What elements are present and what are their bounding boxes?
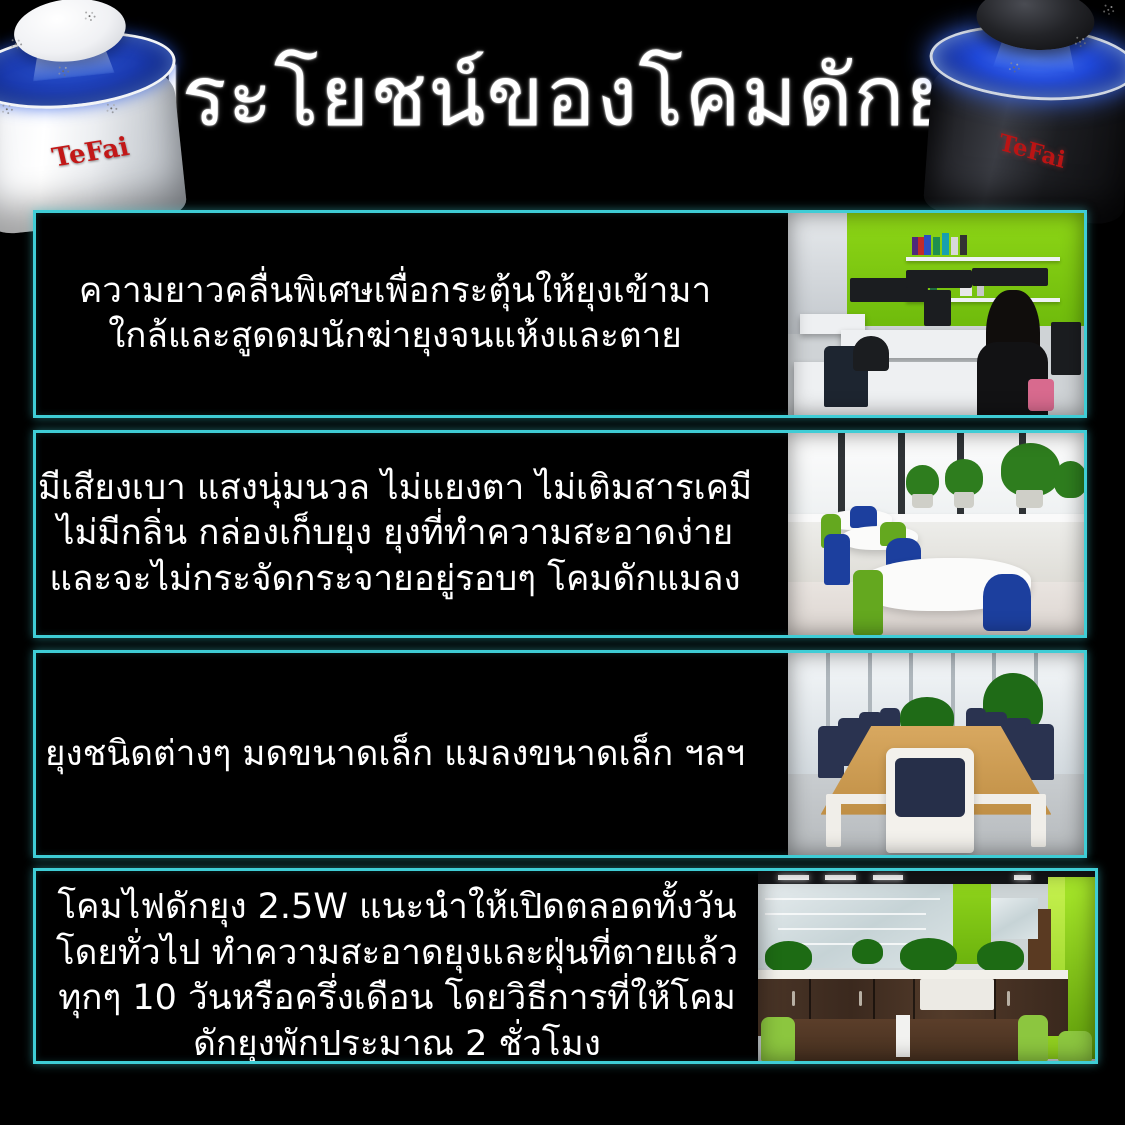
header-banner: ประโยชน์ของโคมดักยุง TeFai TeFai: [0, 0, 1125, 208]
panel-1-text: ความยาวคลื่นพิเศษเพื่อกระตุ้นให้ยุงเข้าม…: [36, 213, 754, 415]
panel-1-line-2: ใกล้และสูดดมนักฆ่ายุงจนแห้งและตาย: [108, 314, 682, 359]
panel-1-line-1: ความยาวคลื่นพิเศษเพื่อกระตุ้นให้ยุงเข้าม…: [79, 269, 711, 314]
benefit-panel-1: ความยาวคลื่นพิเศษเพื่อกระตุ้นให้ยุงเข้าม…: [33, 210, 1087, 418]
mosquito-icon: [1107, 9, 1109, 11]
panel-4-photo: [758, 871, 1095, 1061]
panel-4-text: โคมไฟดักยุง 2.5W แนะนำให้เปิดตลอดทั้งวัน…: [36, 871, 758, 1061]
panel-4-line-3: ทุกๆ 10 วันหรือครึ่งเดือน โดยวิธีการที่ใ…: [58, 976, 736, 1022]
panel-2-photo: [788, 433, 1084, 635]
benefit-panel-3: ยุงชนิดต่างๆ มดขนาดเล็ก แมลงขนาดเล็ก ฯลฯ: [33, 650, 1087, 858]
benefit-panel-4: โคมไฟดักยุง 2.5W แนะนำให้เปิดตลอดทั้งวัน…: [33, 868, 1098, 1064]
panel-2-line-3: และจะไม่กระจัดกระจายอยู่รอบๆ โคมดักแมลง: [49, 557, 740, 603]
panel-3-line-1: ยุงชนิดต่างๆ มดขนาดเล็ก แมลงขนาดเล็ก ฯลฯ: [45, 732, 745, 777]
panel-1-photo: [788, 213, 1084, 415]
panel-4-line-2: โดยทั่วไป ทำความสะอาดยุงและฝุ่นที่ตายแล้…: [56, 931, 738, 977]
mosquito-icon: [1079, 41, 1081, 43]
mosquito-icon: [1013, 66, 1015, 68]
panel-4-line-1: โคมไฟดักยุง 2.5W แนะนำให้เปิดตลอดทั้งวัน: [57, 885, 736, 931]
benefit-panel-2: มีเสียงเบา แสงนุ่มนวล ไม่แยงตา ไม่เติมสา…: [33, 430, 1087, 638]
panel-4-line-4: ดักยุงพักประมาณ 2 ชั่วโมง: [193, 1022, 601, 1065]
panel-2-text: มีเสียงเบา แสงนุ่มนวล ไม่แยงตา ไม่เติมสา…: [36, 433, 754, 635]
panel-3-photo: [788, 653, 1084, 855]
panel-3-text: ยุงชนิดต่างๆ มดขนาดเล็ก แมลงขนาดเล็ก ฯลฯ: [36, 653, 754, 855]
panel-2-line-2: ไม่มีกลิ่น กล่องเก็บยุง ยุงที่ทำความสะอา…: [57, 511, 733, 557]
product-image-black-lamp: TeFai: [917, 0, 1125, 219]
panel-2-line-1: มีเสียงเบา แสงนุ่มนวล ไม่แยงตา ไม่เติมสา…: [38, 466, 752, 512]
product-image-white-lamp: TeFai: [0, 0, 214, 237]
